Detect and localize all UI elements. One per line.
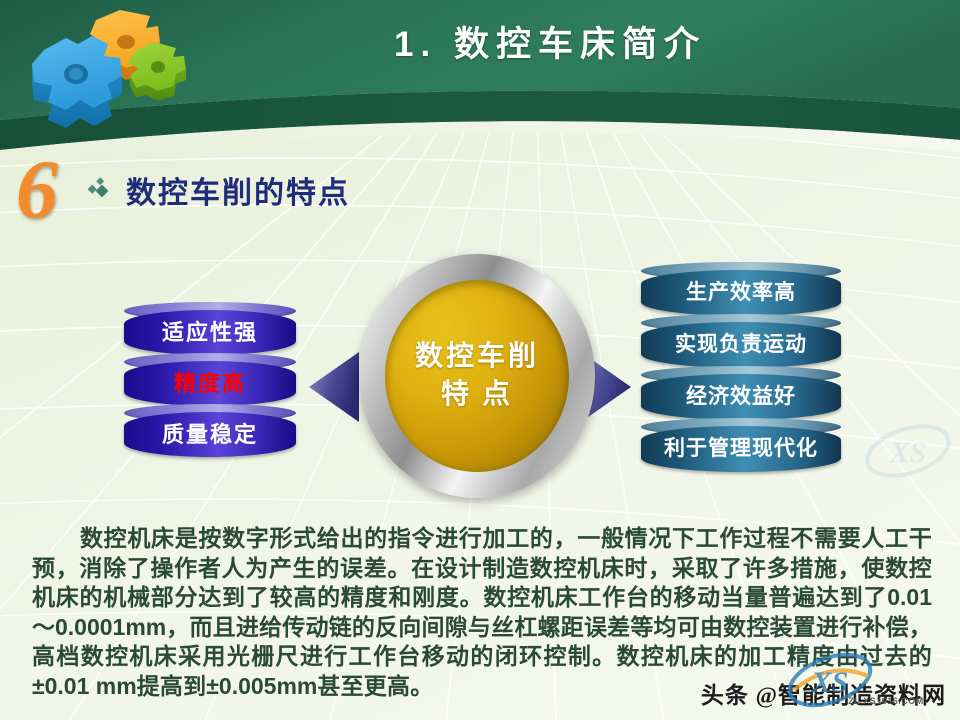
list-item[interactable]: 利于管理现代化 [641,418,841,476]
body-seg-2: ，而且进给传动链的反向间隙与丝杠螺距误差等均可由数控装置进行补偿，高档数控机床采… [32,615,932,670]
center-badge[interactable]: 数控车削 特 点 [359,254,595,498]
center-label-line2: 特 点 [441,376,513,414]
body-value-3: ±0.005mm [206,673,317,699]
body-value-2: ±0.01 mm [32,673,137,699]
cylinder-label: 质量稳定 [162,417,258,449]
list-item[interactable]: 实现负责运动 [641,314,841,372]
center-label-line1: 数控车削 [415,338,539,376]
list-item[interactable]: 适应性强 [124,302,296,359]
list-item[interactable]: 精度高 [124,353,296,410]
cylinder-label: 生产效率高 [686,276,796,306]
list-item[interactable]: 经济效益好 [641,366,841,424]
body-paragraph: 数控机床是按数字形式给出的指令进行加工的，一般情况下工作过程不需要人工干预，消除… [32,524,932,701]
cylinder-label-highlight: 精度高 [174,366,246,398]
slide-canvas: 1. 数控车床简介 6 数控车削的特点 适应性强 精度高 质量稳定 [0,0,960,720]
cylinder-label: 利于管理现代化 [664,432,818,462]
subheading-text: 数控车削的特点 [126,168,350,212]
cylinder-label: 实现负责运动 [675,328,807,358]
list-item[interactable]: 质量稳定 [124,404,296,461]
left-feature-stack: 适应性强 精度高 质量稳定 [124,302,296,455]
body-seg-4: 甚至更高。 [317,674,433,699]
body-seg-3: 提高到 [137,674,207,699]
watermark-text: 头条 @智能制造资料网 [701,676,946,710]
diamond-bullet-icon [88,177,114,203]
list-item[interactable]: 生产效率高 [641,262,841,320]
subheading-row: 数控车削的特点 [88,168,350,212]
right-feature-stack: 生产效率高 实现负责运动 经济效益好 利于管理现代化 [641,262,841,470]
gold-disc: 数控车削 特 点 [385,280,569,472]
3d-gear-blocks-icon [8,2,193,152]
page-title: 1. 数控车床简介 [340,16,760,67]
cylinder-label: 适应性强 [162,315,258,347]
section-number: 6 [16,148,58,232]
cylinder-label: 经济效益好 [686,380,796,410]
body-seg-1: 数控机床是按数字形式给出的指令进行加工的，一般情况下工作过程不需要人工干预，消除… [32,526,932,610]
